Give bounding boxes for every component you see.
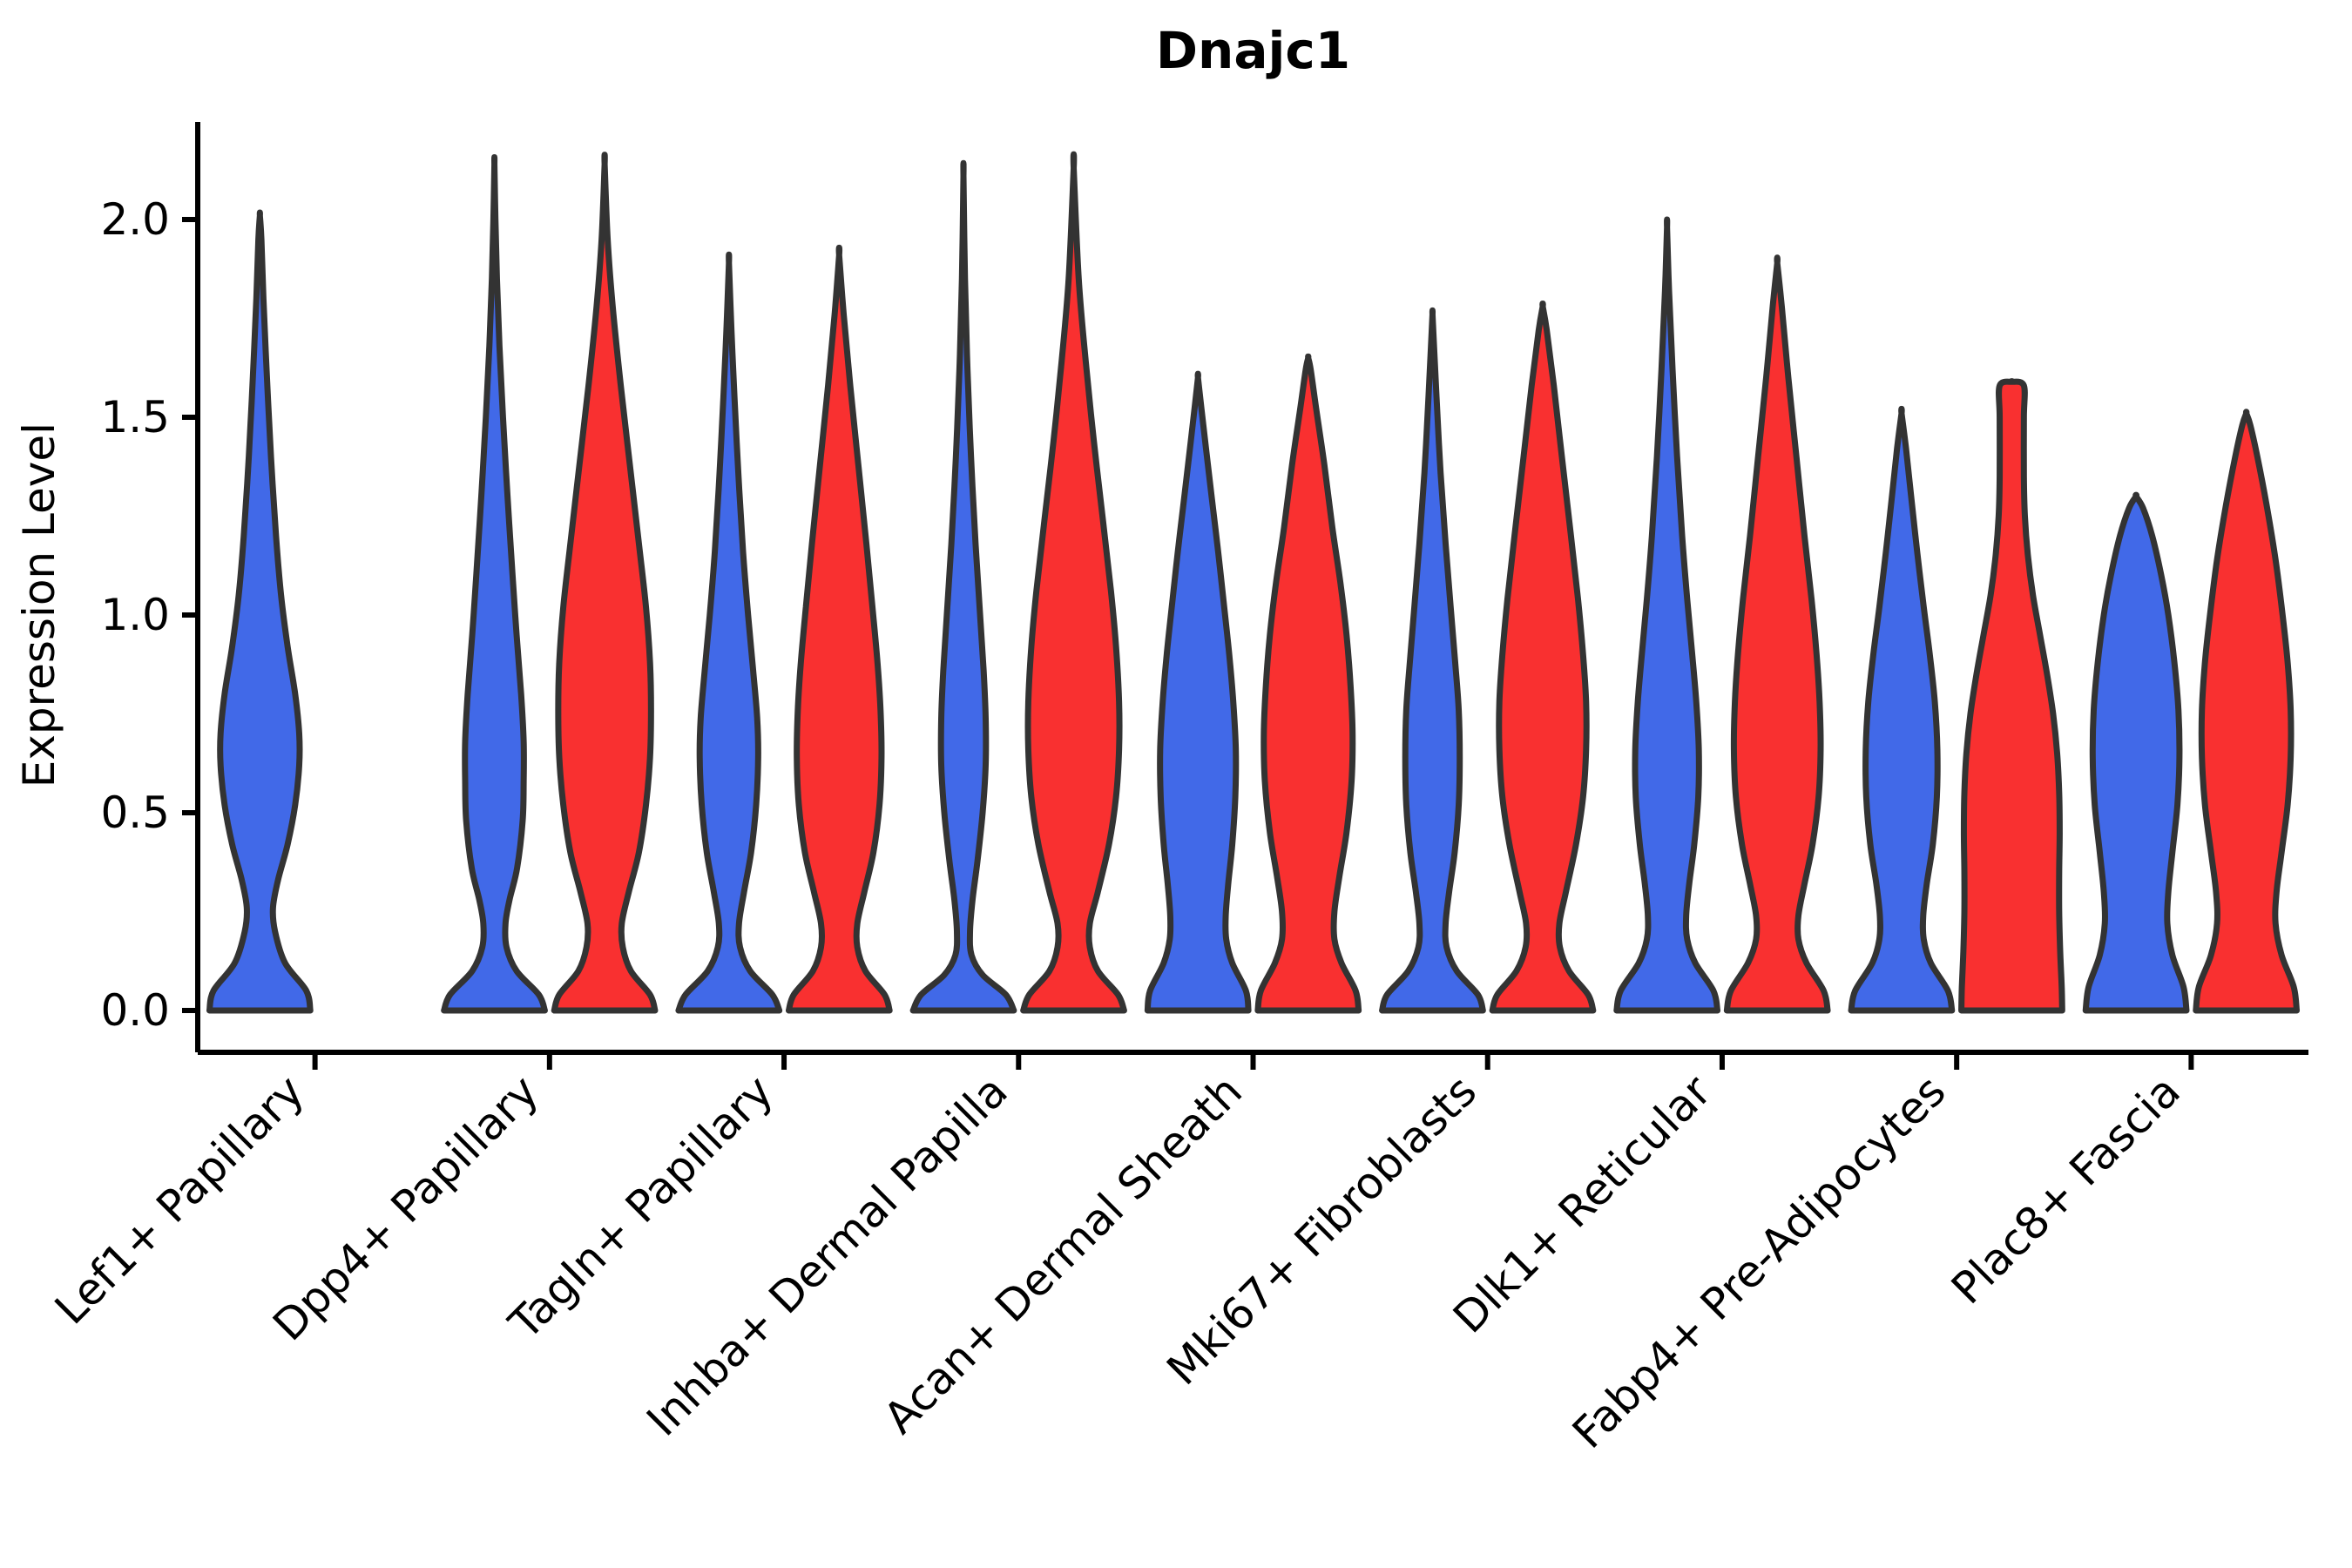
violin-blue-7[interactable] xyxy=(1851,409,1952,1010)
violin-red-8[interactable] xyxy=(2196,412,2297,1010)
violin-blue-6[interactable] xyxy=(1617,220,1718,1010)
y-tick-label: 0.5 xyxy=(100,787,170,838)
violin-blue-5[interactable] xyxy=(1382,310,1484,1010)
y-axis-label: Expression Level xyxy=(14,422,64,787)
violin-red-3[interactable] xyxy=(1024,154,1125,1010)
violin-blue-1[interactable] xyxy=(444,157,545,1010)
violin-blue-3[interactable] xyxy=(913,163,1014,1010)
violin-red-4[interactable] xyxy=(1258,356,1359,1010)
plot-canvas: Dnajc1Expression Level0.00.51.01.52.0Lef… xyxy=(0,0,2352,1568)
violin-red-5[interactable] xyxy=(1492,303,1593,1010)
y-tick-label: 1.5 xyxy=(100,392,170,443)
violin-red-1[interactable] xyxy=(554,155,655,1010)
x-tick-label-7: Fabp4+ Pre-Adipocytes xyxy=(1563,1065,1956,1458)
violin-blue-8[interactable] xyxy=(2085,495,2186,1010)
violin-red-7[interactable] xyxy=(1962,382,2063,1010)
x-tick-label-8: Plac8+ Fascia xyxy=(1942,1065,2190,1314)
violin-blue-2[interactable] xyxy=(679,254,780,1010)
violin-plot-figure: Dnajc1Expression Level0.00.51.01.52.0Lef… xyxy=(0,0,2352,1568)
x-tick-label-6: Dlk1+ Reticular xyxy=(1443,1065,1720,1342)
violin-red-2[interactable] xyxy=(788,247,889,1010)
violin-blue-4[interactable] xyxy=(1147,374,1248,1010)
y-tick-label: 2.0 xyxy=(100,194,170,245)
violin-blue-0[interactable] xyxy=(209,213,310,1010)
violin-red-6[interactable] xyxy=(1727,258,1828,1010)
chart-title: Dnajc1 xyxy=(1156,21,1350,80)
x-tick-label-0: Lef1+ Papillary xyxy=(45,1065,314,1334)
y-tick-label: 1.0 xyxy=(100,590,170,640)
y-tick-label: 0.0 xyxy=(100,985,170,1036)
